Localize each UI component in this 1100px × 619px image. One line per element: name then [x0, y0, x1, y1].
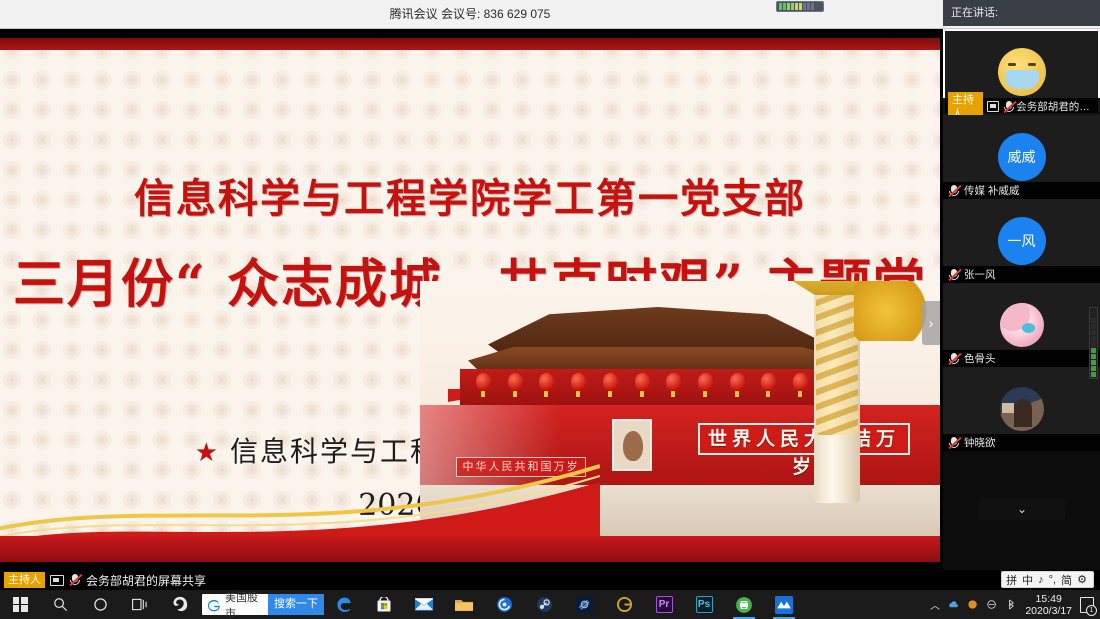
- network-icon[interactable]: [986, 598, 997, 611]
- ime-app-icon[interactable]: [160, 590, 200, 619]
- star-icon-left: ★: [195, 438, 220, 468]
- origin-glyph: [576, 596, 593, 613]
- clock-date: 2020/3/17: [1025, 605, 1072, 617]
- store-glyph: [376, 597, 392, 613]
- notification-center-icon[interactable]: 1: [1080, 597, 1094, 613]
- currently-speaking-panel: 正在讲话:: [943, 0, 1100, 26]
- lanterns-decoration: [472, 373, 844, 407]
- microphone-muted-icon: [69, 573, 81, 587]
- avatar: [998, 48, 1046, 96]
- task-view-icon[interactable]: [120, 590, 160, 619]
- avatar: [1000, 387, 1044, 431]
- search-submit-button[interactable]: 搜索一下: [268, 594, 324, 615]
- premiere-glyph: Pr: [656, 596, 673, 613]
- ime-language-icon[interactable]: 中: [1022, 572, 1033, 588]
- presentation-slide: 信息科学与工程学院学工第一党支部 三月份“ 众志成城，共克时艰” 主题党日 ★信…: [0, 38, 940, 562]
- sogou-glyph: [171, 596, 189, 614]
- mail-glyph: [415, 598, 433, 611]
- avatar: 一风: [998, 217, 1046, 265]
- host-badge: 主持人: [4, 572, 45, 588]
- participant-name: 会务部胡君的屏幕共...: [1016, 99, 1100, 114]
- ime-shape-icon[interactable]: 简: [1061, 572, 1072, 588]
- tiananmen-image: 中华人民共和国万岁 世界人民大团结万岁: [420, 281, 940, 536]
- participant-tile-3[interactable]: 色骨头: [943, 283, 1100, 367]
- tencent-meeting-icon[interactable]: [724, 590, 764, 619]
- cortana-glyph: [93, 597, 108, 612]
- windows-logo-icon: [13, 597, 28, 612]
- wegame-glyph: [496, 596, 513, 613]
- participant-name: 张一风: [964, 267, 996, 282]
- participant-label-3: 色骨头: [943, 350, 1100, 367]
- search-input[interactable]: 美国股市 搜索一下: [202, 594, 324, 615]
- meeting-top-bar: 腾讯会议 会议号: 836 629 075: [0, 0, 1100, 29]
- participant-tile-4[interactable]: 钟晓欲: [943, 367, 1100, 451]
- participant-label-0: 主持人 会务部胡君的屏幕共...: [943, 98, 1100, 115]
- microphone-muted-icon: [948, 352, 960, 366]
- microsoft-store-icon[interactable]: [364, 590, 404, 619]
- chevron-down-icon: ⌄: [1017, 502, 1027, 516]
- premiere-icon[interactable]: Pr: [644, 590, 684, 619]
- avatar: [1000, 303, 1044, 347]
- microphone-muted-icon: [1003, 100, 1013, 114]
- grammarly-glyph: [616, 596, 633, 613]
- screen-share-icon: [987, 101, 999, 112]
- photoshop-glyph: Ps: [696, 596, 713, 613]
- wps-icon[interactable]: [764, 590, 804, 619]
- presenter-name: 会务部胡君的屏幕共享: [86, 572, 206, 589]
- microphone-muted-icon: [948, 184, 960, 198]
- gate-banner-right: 世界人民大团结万岁: [698, 423, 910, 455]
- battery-warning-icon[interactable]: [967, 598, 978, 611]
- participant-name: 钟晓欲: [964, 435, 996, 450]
- grammarly-icon[interactable]: [604, 590, 644, 619]
- search-icon[interactable]: [40, 590, 80, 619]
- clock[interactable]: 15:49 2020/3/17: [1025, 593, 1072, 617]
- internet-explorer-icon: [207, 598, 221, 612]
- folder-glyph: [455, 598, 473, 612]
- microphone-muted-icon: [948, 268, 960, 282]
- notification-badge: 1: [1086, 605, 1097, 616]
- ime-toolbar[interactable]: 拼 中 ♪ °, 简 ⚙: [1001, 571, 1094, 588]
- participant-tile-1[interactable]: 威威 传媒 补威威: [943, 115, 1100, 199]
- wps-glyph: [775, 596, 793, 614]
- origin-icon[interactable]: [564, 590, 604, 619]
- expand-participants-button[interactable]: ⌄: [979, 498, 1065, 520]
- task-view-glyph: [132, 598, 149, 611]
- ime-sound-icon[interactable]: ♪: [1038, 574, 1044, 586]
- screen-share-icon: [50, 575, 64, 586]
- speaker-volume-meter: [1089, 307, 1098, 379]
- mail-icon[interactable]: [404, 590, 444, 619]
- gear-icon[interactable]: ⚙: [1077, 573, 1087, 586]
- search-glyph: [53, 597, 68, 612]
- participant-tile-2[interactable]: 一风 张一风: [943, 199, 1100, 283]
- participant-label-2: 张一风: [943, 266, 1100, 283]
- portrait-frame: [612, 419, 652, 471]
- file-explorer-icon[interactable]: [444, 590, 484, 619]
- steam-icon[interactable]: [524, 590, 564, 619]
- screen-root: 腾讯会议 会议号: 836 629 075 正在讲话: 信息科学与工程学院学工第…: [0, 0, 1100, 619]
- system-tray[interactable]: ︿ 15:49 2020/3/17 1: [930, 590, 1100, 619]
- slide-title-line1: 信息科学与工程学院学工第一党支部: [0, 166, 940, 224]
- participant-name: 色骨头: [964, 351, 996, 366]
- tencent-meeting-glyph: [735, 596, 753, 614]
- participant-label-4: 钟晓欲: [943, 434, 1100, 451]
- edge-glyph: [336, 596, 353, 613]
- ime-punctuation-icon[interactable]: °,: [1049, 574, 1056, 586]
- cortana-icon[interactable]: [80, 590, 120, 619]
- microphone-muted-icon: [948, 436, 960, 450]
- clock-time: 15:49: [1025, 593, 1072, 605]
- presenter-status-bar: 主持人 会务部胡君的屏幕共享: [0, 570, 940, 590]
- steam-glyph: [536, 596, 553, 613]
- participant-rail[interactable]: 主持人 会务部胡君的屏幕共... 威威 传媒 补威威 一风 张一风: [943, 29, 1100, 570]
- audio-level-meter: [776, 1, 824, 12]
- participant-label-1: 传媒 补威威: [943, 182, 1100, 199]
- wegame-icon[interactable]: [484, 590, 524, 619]
- shared-screen-area[interactable]: 信息科学与工程学院学工第一党支部 三月份“ 众志成城，共克时艰” 主题党日 ★信…: [0, 29, 940, 570]
- onedrive-icon[interactable]: [948, 598, 959, 611]
- start-button[interactable]: [0, 590, 40, 619]
- participant-name: 传媒 补威威: [964, 183, 1019, 198]
- ime-mode-icon[interactable]: 拼: [1006, 572, 1017, 588]
- show-hidden-icons-icon[interactable]: ︿: [930, 597, 940, 612]
- photoshop-icon[interactable]: Ps: [684, 590, 724, 619]
- gate-banner-left: 中华人民共和国万岁: [456, 457, 586, 477]
- slide-bottom-band: [0, 536, 940, 562]
- participant-tile-0[interactable]: 主持人 会务部胡君的屏幕共...: [943, 29, 1100, 115]
- edge-icon[interactable]: [324, 590, 364, 619]
- avatar: 威威: [998, 133, 1046, 181]
- chevron-right-icon[interactable]: ›: [922, 301, 940, 345]
- search-input-value: 美国股市: [225, 589, 268, 619]
- bluetooth-icon[interactable]: [1005, 598, 1017, 611]
